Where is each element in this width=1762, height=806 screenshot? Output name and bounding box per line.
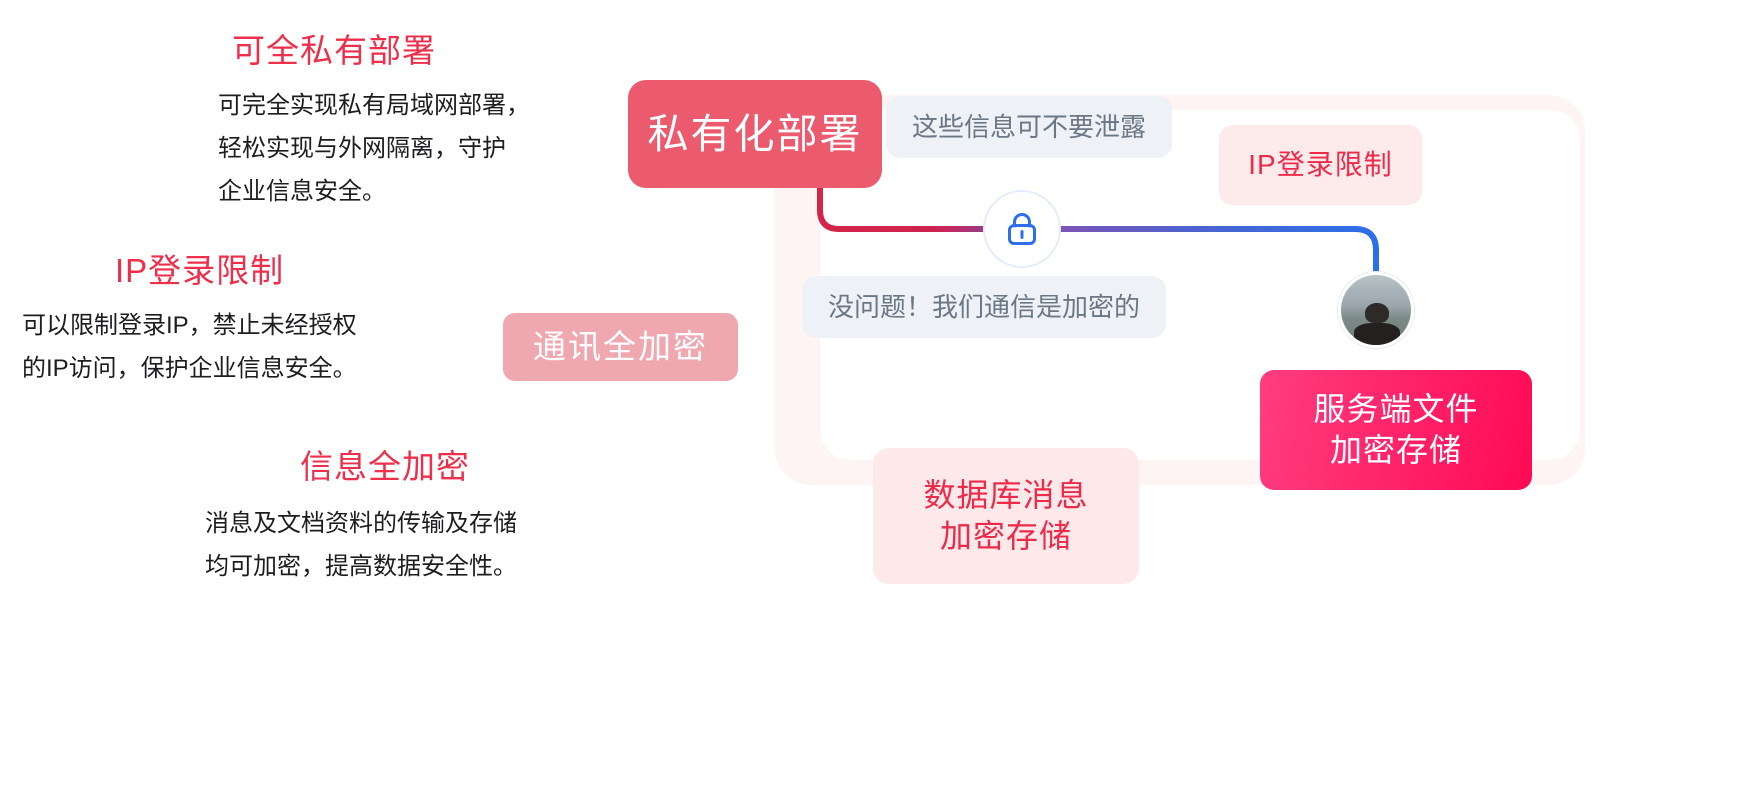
chat-bubble-incoming: 这些信息可不要泄露	[886, 96, 1172, 158]
avatar-man	[1338, 272, 1414, 348]
feature-title-full-encrypt: 信息全加密	[0, 446, 640, 487]
chat-illustration: 这些信息可不要泄露 没问题！我们通信是加密的 私有化部署 IP登录限制 通讯全加…	[690, 0, 1762, 806]
infographic-root: 可全私有部署 可完全实现私有局域网部署， 轻松实现与外网隔离，守护 企业信息安全…	[0, 0, 1762, 806]
feature-block-full-encrypt: 信息全加密 消息及文档资料的传输及存储 均可加密，提高数据安全性。	[0, 446, 640, 589]
badge-server-file-encrypt: 服务端文件 加密存储	[1260, 370, 1532, 490]
avatar-man-photo	[1341, 275, 1411, 345]
feature-title-ip-restrict: IP登录限制	[0, 250, 600, 291]
lock-icon	[1005, 211, 1039, 247]
badge-private-deploy: 私有化部署	[628, 80, 882, 188]
lock-node	[983, 190, 1061, 268]
feature-title-private-deploy: 可全私有部署	[0, 30, 600, 71]
feature-body-full-encrypt: 消息及文档资料的传输及存储 均可加密，提高数据安全性。	[0, 503, 640, 588]
badge-db-message-encrypt: 数据库消息 加密存储	[873, 448, 1139, 584]
feature-body-private-deploy: 可完全实现私有局域网部署， 轻松实现与外网隔离，守护 企业信息安全。	[0, 85, 600, 213]
feature-block-private-deploy: 可全私有部署 可完全实现私有局域网部署， 轻松实现与外网隔离，守护 企业信息安全…	[0, 30, 600, 213]
badge-ip-restrict: IP登录限制	[1219, 125, 1422, 205]
chat-bubble-outgoing: 没问题！我们通信是加密的	[802, 276, 1166, 338]
badge-comm-encrypt: 通讯全加密	[503, 313, 738, 381]
